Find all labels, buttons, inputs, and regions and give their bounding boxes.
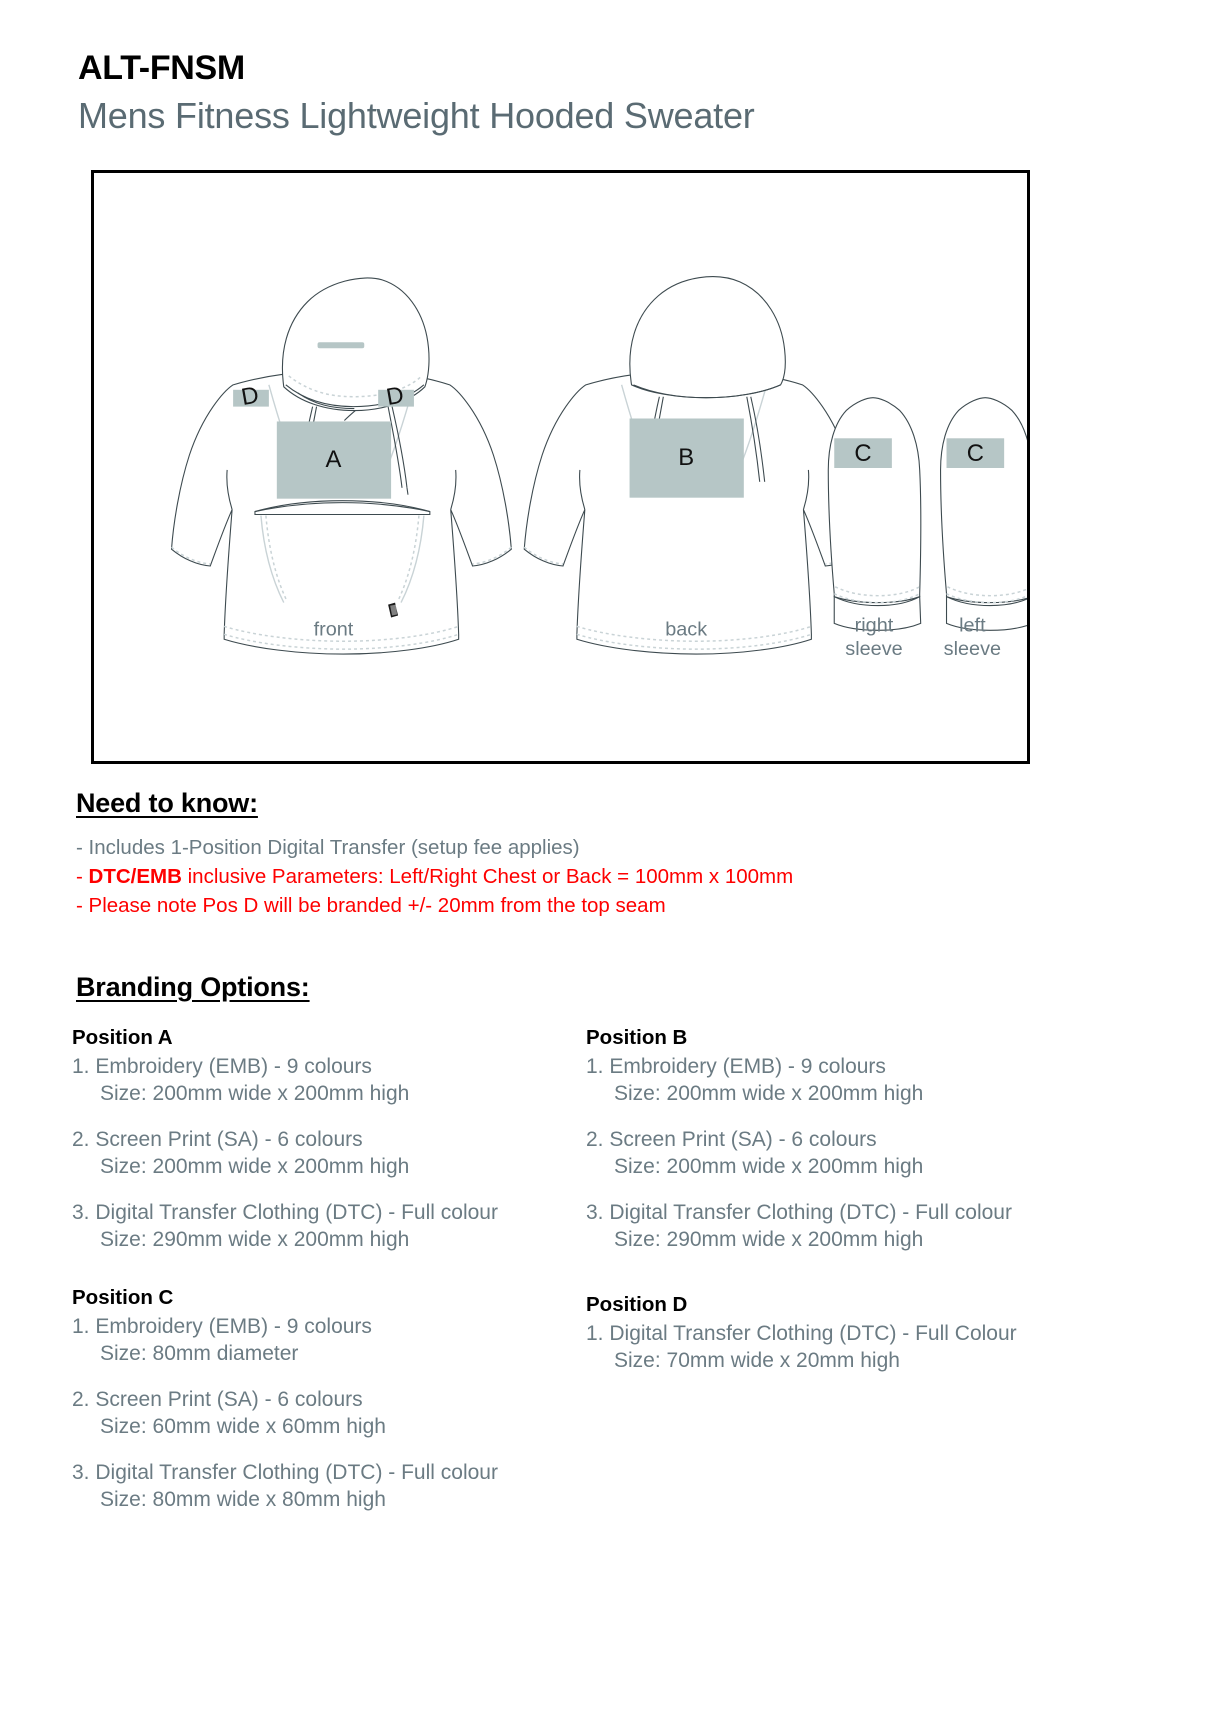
need-to-know-list: - Includes 1-Position Digital Transfer (… bbox=[76, 833, 1076, 920]
left-sleeve-view: C left sleeve bbox=[941, 398, 1027, 660]
option-number: 3. bbox=[72, 1461, 90, 1484]
need-to-know-item-2: - DTC/EMB inclusive Parameters: Left/Rig… bbox=[76, 862, 1076, 891]
option-method: 2. Screen Print (SA) - 6 colours bbox=[72, 1126, 592, 1153]
option-method: 3. Digital Transfer Clothing (DTC) - Ful… bbox=[586, 1199, 1146, 1226]
position-d-option-1: 1. Digital Transfer Clothing (DTC) - Ful… bbox=[586, 1320, 1146, 1374]
position-c-heading: Position C bbox=[72, 1284, 592, 1312]
position-b-placement-box: B bbox=[630, 418, 744, 497]
option-method: 1. Embroidery (EMB) - 9 colours bbox=[586, 1053, 1146, 1080]
position-c-placement-box-right: C bbox=[834, 438, 892, 468]
position-a-heading: Position A bbox=[72, 1024, 592, 1052]
branding-options-heading: Branding Options: bbox=[76, 972, 310, 1003]
page-title: Mens Fitness Lightweight Hooded Sweater bbox=[78, 94, 755, 138]
option-method: 2. Screen Print (SA) - 6 colours bbox=[72, 1386, 592, 1413]
option-size: Size: 70mm wide x 20mm high bbox=[586, 1347, 1146, 1374]
right-sleeve-caption-line2: sleeve bbox=[845, 638, 902, 660]
option-number: 2. bbox=[586, 1128, 604, 1151]
position-a-option-2: 2. Screen Print (SA) - 6 colours Size: 2… bbox=[72, 1126, 592, 1180]
position-c-option-1: 1. Embroidery (EMB) - 9 colours Size: 80… bbox=[72, 1313, 592, 1367]
need-to-know-heading: Need to know: bbox=[76, 788, 258, 819]
position-c-placement-box-left: C bbox=[947, 438, 1005, 468]
option-number: 1. bbox=[72, 1315, 90, 1338]
option-number: 2. bbox=[72, 1128, 90, 1151]
option-number: 1. bbox=[586, 1055, 604, 1078]
position-a-option-3: 3. Digital Transfer Clothing (DTC) - Ful… bbox=[72, 1199, 592, 1253]
need-to-know-item-2-rest: inclusive Parameters: Left/Right Chest o… bbox=[182, 865, 793, 888]
option-size: Size: 200mm wide x 200mm high bbox=[586, 1153, 1146, 1180]
option-method-text: Digital Transfer Clothing (DTC) - Full c… bbox=[95, 1201, 498, 1224]
left-sleeve-caption-line2: sleeve bbox=[944, 638, 1001, 660]
right-sleeve-view: C right sleeve bbox=[828, 398, 921, 660]
need-to-know-item-1: - Includes 1-Position Digital Transfer (… bbox=[76, 833, 1076, 862]
option-number: 2. bbox=[72, 1388, 90, 1411]
branding-column-left: Position A 1. Embroidery (EMB) - 9 colou… bbox=[72, 1024, 592, 1513]
option-method-text: Screen Print (SA) - 6 colours bbox=[95, 1128, 362, 1151]
position-b-option-2: 2. Screen Print (SA) - 6 colours Size: 2… bbox=[586, 1126, 1146, 1180]
option-size: Size: 290mm wide x 200mm high bbox=[586, 1226, 1146, 1253]
back-view-caption: back bbox=[665, 618, 707, 640]
position-c-label-left: C bbox=[967, 440, 984, 467]
option-method-text: Screen Print (SA) - 6 colours bbox=[95, 1388, 362, 1411]
position-b-heading: Position B bbox=[586, 1024, 1146, 1052]
position-b-option-3: 3. Digital Transfer Clothing (DTC) - Ful… bbox=[586, 1199, 1146, 1253]
option-size: Size: 200mm wide x 200mm high bbox=[72, 1153, 592, 1180]
position-a-label: A bbox=[326, 446, 342, 473]
position-c-option-2: 2. Screen Print (SA) - 6 colours Size: 6… bbox=[72, 1386, 592, 1440]
option-method: 3. Digital Transfer Clothing (DTC) - Ful… bbox=[72, 1199, 592, 1226]
option-number: 1. bbox=[72, 1055, 90, 1078]
option-method: 1. Embroidery (EMB) - 9 colours bbox=[72, 1313, 592, 1340]
front-view: D D A bbox=[172, 278, 512, 654]
option-size: Size: 80mm diameter bbox=[72, 1340, 592, 1367]
option-method: 2. Screen Print (SA) - 6 colours bbox=[586, 1126, 1146, 1153]
option-size: Size: 200mm wide x 200mm high bbox=[72, 1080, 592, 1107]
back-view: B back bbox=[524, 277, 864, 654]
option-method-text: Embroidery (EMB) - 9 colours bbox=[95, 1315, 372, 1338]
need-to-know-item-2-bold: DTC/EMB bbox=[89, 865, 182, 888]
position-block-d: Position D 1. Digital Transfer Clothing … bbox=[586, 1291, 1146, 1374]
page-header: ALT-FNSM Mens Fitness Lightweight Hooded… bbox=[78, 48, 755, 138]
position-b-label: B bbox=[678, 444, 694, 471]
front-view-caption: front bbox=[314, 618, 354, 640]
option-method-text: Digital Transfer Clothing (DTC) - Full c… bbox=[95, 1461, 498, 1484]
garment-technical-drawing: .ol { fill:#ffffff; stroke:#3d4a4f; stro… bbox=[94, 173, 1027, 761]
option-number: 3. bbox=[72, 1201, 90, 1224]
position-block-b: Position B 1. Embroidery (EMB) - 9 colou… bbox=[586, 1024, 1146, 1253]
option-method: 1. Digital Transfer Clothing (DTC) - Ful… bbox=[586, 1320, 1146, 1347]
position-a-placement-box: A bbox=[277, 421, 391, 498]
product-sku: ALT-FNSM bbox=[78, 48, 755, 88]
option-method: 1. Embroidery (EMB) - 9 colours bbox=[72, 1053, 592, 1080]
option-size: Size: 80mm wide x 80mm high bbox=[72, 1486, 592, 1513]
left-sleeve-caption-line1: left bbox=[959, 614, 986, 636]
option-method-text: Embroidery (EMB) - 9 colours bbox=[609, 1055, 886, 1078]
position-block-c: Position C 1. Embroidery (EMB) - 9 colou… bbox=[72, 1284, 592, 1513]
branding-column-right: Position B 1. Embroidery (EMB) - 9 colou… bbox=[586, 1024, 1146, 1374]
need-to-know-item-3: - Please note Pos D will be branded +/- … bbox=[76, 891, 1076, 920]
option-method-text: Digital Transfer Clothing (DTC) - Full c… bbox=[609, 1201, 1012, 1224]
option-size: Size: 200mm wide x 200mm high bbox=[586, 1080, 1146, 1107]
option-size: Size: 60mm wide x 60mm high bbox=[72, 1413, 592, 1440]
option-method-text: Screen Print (SA) - 6 colours bbox=[609, 1128, 876, 1151]
option-size: Size: 290mm wide x 200mm high bbox=[72, 1226, 592, 1253]
option-number: 3. bbox=[586, 1201, 604, 1224]
position-c-label-right: C bbox=[854, 440, 871, 467]
garment-illustration-frame: .ol { fill:#ffffff; stroke:#3d4a4f; stro… bbox=[91, 170, 1030, 764]
position-d-heading: Position D bbox=[586, 1291, 1146, 1319]
position-c-option-3: 3. Digital Transfer Clothing (DTC) - Ful… bbox=[72, 1459, 592, 1513]
option-method: 3. Digital Transfer Clothing (DTC) - Ful… bbox=[72, 1459, 592, 1486]
option-method-text: Embroidery (EMB) - 9 colours bbox=[95, 1055, 372, 1078]
option-method-text: Digital Transfer Clothing (DTC) - Full C… bbox=[609, 1322, 1016, 1345]
option-number: 1. bbox=[586, 1322, 604, 1345]
position-a-option-1: 1. Embroidery (EMB) - 9 colours Size: 20… bbox=[72, 1053, 592, 1107]
need-to-know-item-2-prefix: - bbox=[76, 865, 89, 888]
product-spec-page: ALT-FNSM Mens Fitness Lightweight Hooded… bbox=[0, 0, 1227, 1720]
position-b-option-1: 1. Embroidery (EMB) - 9 colours Size: 20… bbox=[586, 1053, 1146, 1107]
right-sleeve-caption-line1: right bbox=[855, 614, 894, 636]
position-block-a: Position A 1. Embroidery (EMB) - 9 colou… bbox=[72, 1024, 592, 1253]
